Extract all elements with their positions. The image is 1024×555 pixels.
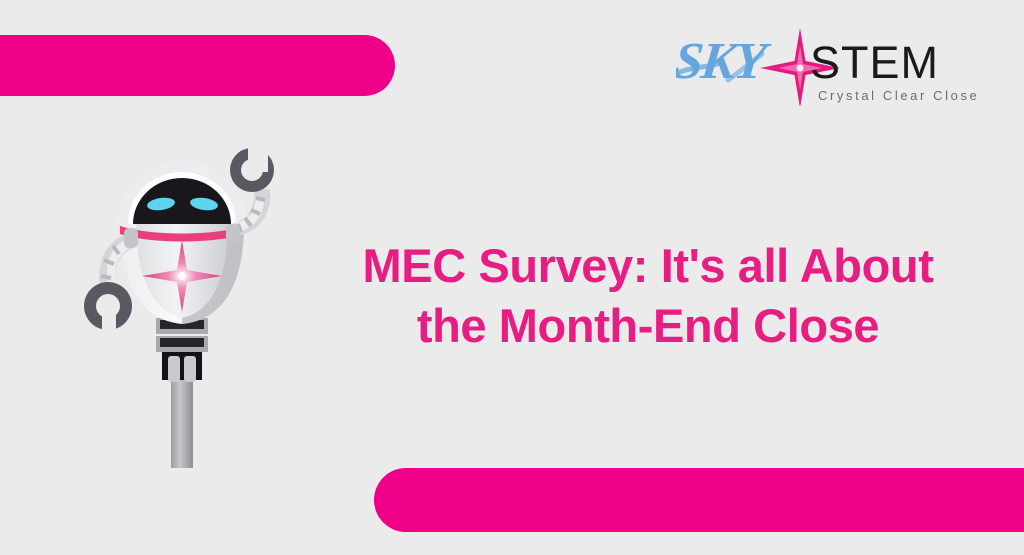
robot-claw-left [84, 282, 132, 332]
decor-bar-top-left [0, 35, 395, 96]
skystem-logo[interactable]: SKY STEM Crystal Clear Close [676, 28, 976, 106]
logo-tagline: Crystal Clear Close [818, 88, 976, 103]
robot-illustration [78, 128, 313, 468]
logo-stem-wordmark: STEM [810, 37, 939, 88]
robot-base [156, 306, 208, 468]
page-title-line-2: the Month-End Close [318, 296, 978, 356]
page-title-line-1: MEC Survey: It's all About [318, 236, 978, 296]
svg-text:SKY: SKY [676, 33, 773, 90]
banner-root: SKY STEM Crystal Clear Close [0, 0, 1024, 555]
logo-sky-wordmark: SKY [676, 33, 773, 90]
robot-head [118, 162, 246, 224]
decor-bar-bottom-right [374, 468, 1024, 532]
robot-claw-right [230, 148, 274, 192]
page-title: MEC Survey: It's all About the Month-End… [318, 236, 978, 355]
